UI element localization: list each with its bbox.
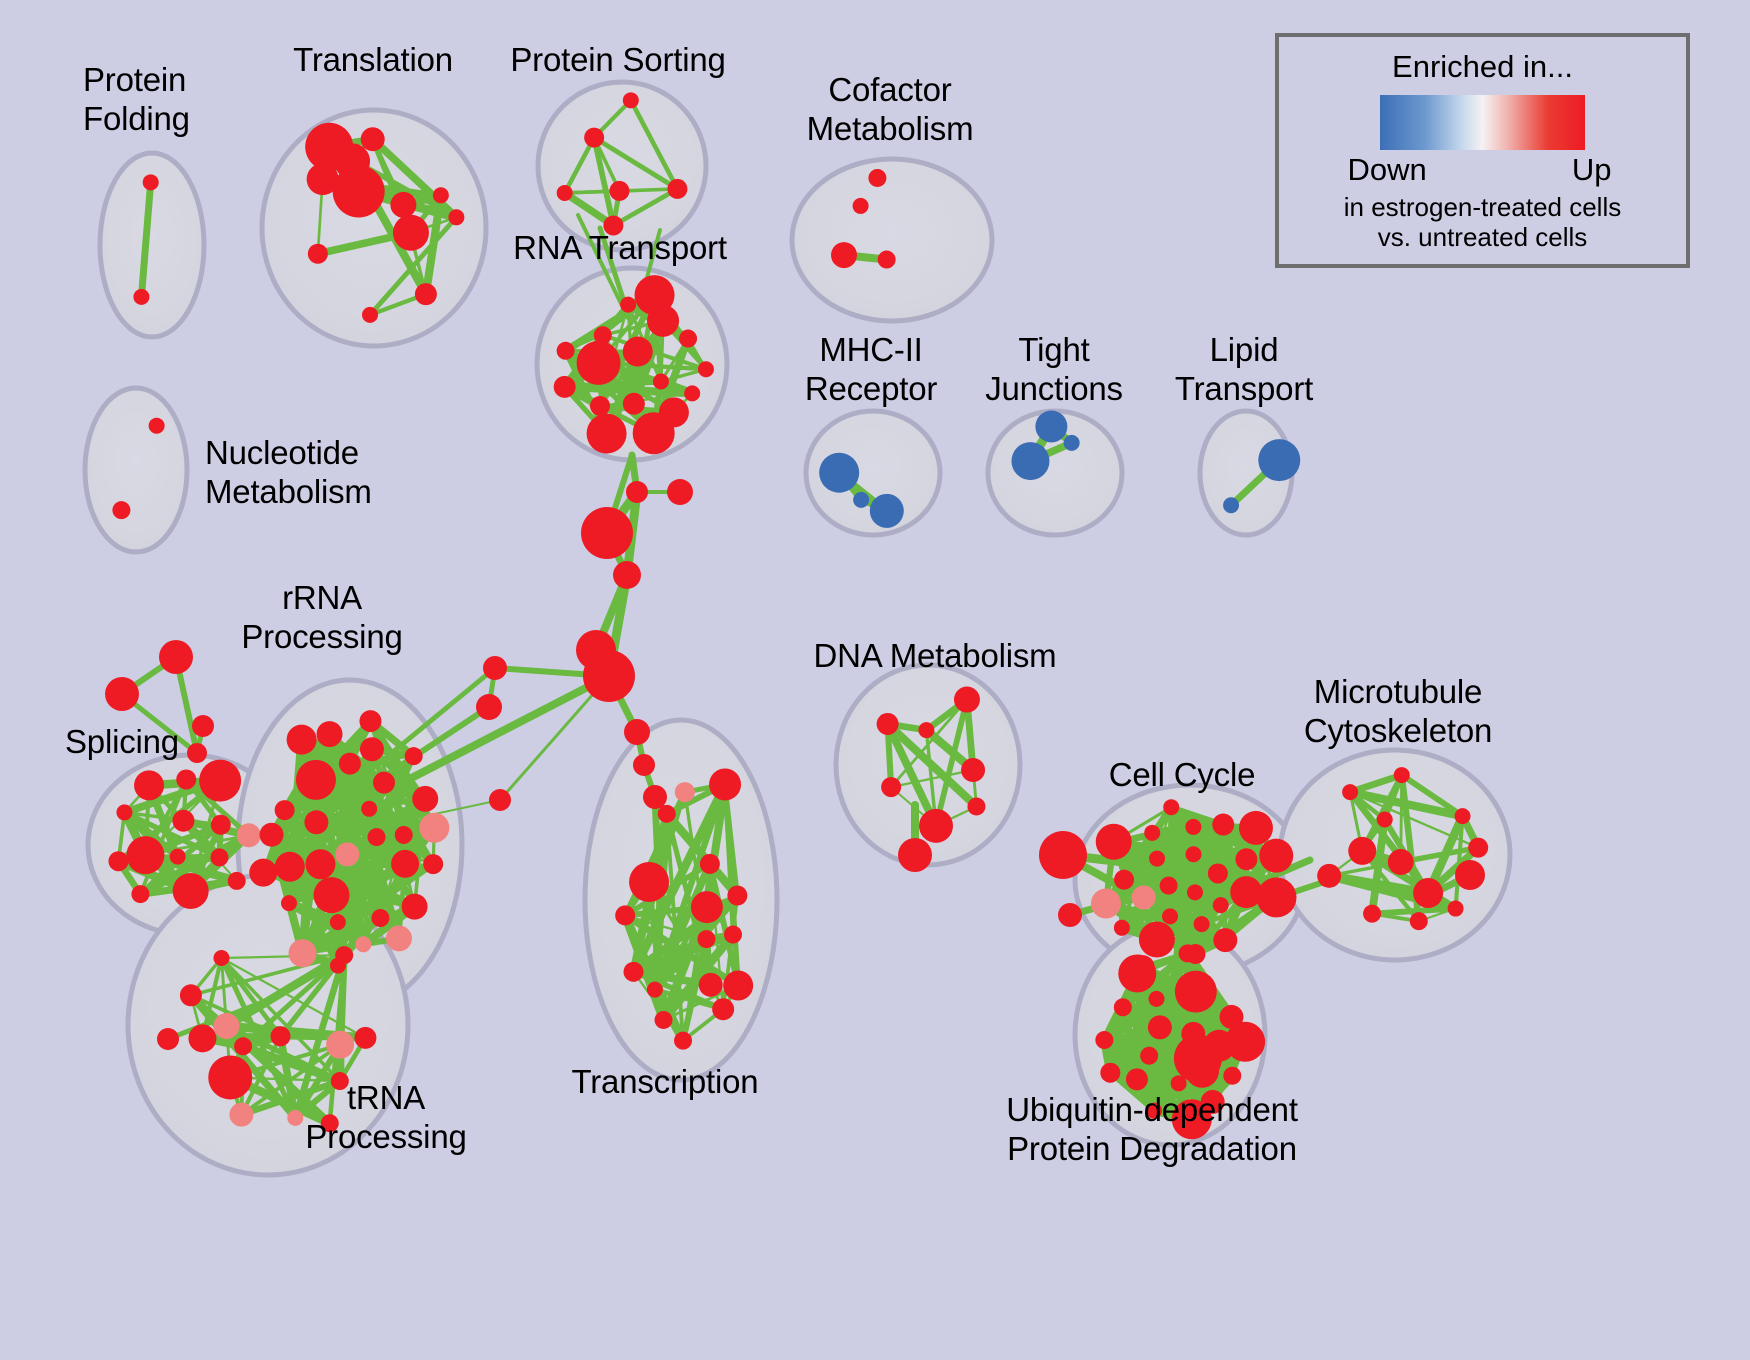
network-node[interactable] bbox=[584, 128, 604, 148]
network-node[interactable] bbox=[1388, 849, 1414, 875]
network-node[interactable] bbox=[361, 801, 377, 817]
network-node[interactable] bbox=[624, 719, 650, 745]
network-node[interactable] bbox=[317, 721, 343, 747]
network-node[interactable] bbox=[658, 805, 676, 823]
network-node[interactable] bbox=[402, 894, 428, 920]
network-node[interactable] bbox=[1096, 824, 1132, 860]
network-node[interactable] bbox=[727, 886, 747, 906]
network-node[interactable] bbox=[393, 215, 429, 251]
network-node[interactable] bbox=[647, 305, 679, 337]
legend-panel: Enriched in... Down Up in estrogen-treat… bbox=[1275, 33, 1690, 268]
network-node[interactable] bbox=[1118, 954, 1156, 992]
network-node[interactable] bbox=[1126, 1068, 1148, 1090]
network-node[interactable] bbox=[1468, 838, 1488, 858]
legend-caption-line2: vs. untreated cells bbox=[1279, 222, 1686, 252]
network-node[interactable] bbox=[355, 936, 371, 952]
network-node[interactable] bbox=[853, 492, 869, 508]
network-node[interactable] bbox=[643, 785, 667, 809]
network-node[interactable] bbox=[583, 650, 635, 702]
network-node[interactable] bbox=[335, 946, 353, 964]
network-node[interactable] bbox=[287, 1110, 303, 1126]
network-node[interactable] bbox=[386, 925, 412, 951]
network-node[interactable] bbox=[213, 950, 229, 966]
network-node[interactable] bbox=[691, 891, 723, 923]
network-node[interactable] bbox=[623, 337, 653, 367]
network-node[interactable] bbox=[557, 342, 575, 360]
network-node[interactable] bbox=[208, 1055, 252, 1099]
network-node[interactable] bbox=[134, 770, 164, 800]
network-node[interactable] bbox=[868, 169, 886, 187]
network-node[interactable] bbox=[390, 192, 416, 218]
network-node[interactable] bbox=[613, 561, 641, 589]
network-node[interactable] bbox=[433, 187, 449, 203]
network-node[interactable] bbox=[1257, 877, 1297, 917]
network-node[interactable] bbox=[1174, 1034, 1222, 1082]
network-node[interactable] bbox=[339, 753, 361, 775]
network-node[interactable] bbox=[1095, 1031, 1113, 1049]
network-node[interactable] bbox=[831, 242, 857, 268]
network-node[interactable] bbox=[368, 828, 386, 846]
network-node[interactable] bbox=[489, 789, 511, 811]
network-node[interactable] bbox=[697, 930, 715, 948]
network-node[interactable] bbox=[700, 854, 720, 874]
cluster-label-protein-folding: Protein Folding bbox=[83, 60, 190, 138]
network-node[interactable] bbox=[1132, 886, 1156, 910]
network-node[interactable] bbox=[699, 973, 723, 997]
network-node[interactable] bbox=[361, 127, 385, 151]
network-node[interactable] bbox=[1035, 410, 1067, 442]
network-node[interactable] bbox=[237, 823, 261, 847]
network-node[interactable] bbox=[1258, 439, 1300, 481]
network-node[interactable] bbox=[1148, 1015, 1172, 1039]
network-node[interactable] bbox=[359, 710, 381, 732]
network-node[interactable] bbox=[709, 768, 741, 800]
network-node[interactable] bbox=[172, 810, 194, 832]
cluster-label-nucleotide-metabolism: Nucleotide Metabolism bbox=[205, 433, 372, 511]
network-node[interactable] bbox=[131, 885, 149, 903]
cluster-label-microtubule-cytoskeleton: Microtubule Cytoskeleton bbox=[1304, 672, 1492, 750]
network-node[interactable] bbox=[1317, 864, 1341, 888]
network-node[interactable] bbox=[1187, 884, 1203, 900]
network-node[interactable] bbox=[305, 849, 335, 879]
network-node[interactable] bbox=[655, 1011, 673, 1029]
network-node[interactable] bbox=[1223, 1067, 1241, 1085]
network-node[interactable] bbox=[1185, 846, 1201, 862]
network-node[interactable] bbox=[1114, 920, 1130, 936]
cluster-label-lipid-transport: Lipid Transport bbox=[1175, 330, 1313, 408]
network-node[interactable] bbox=[249, 859, 277, 887]
network-node[interactable] bbox=[853, 198, 869, 214]
network-node[interactable] bbox=[108, 851, 128, 871]
network-node[interactable] bbox=[415, 283, 437, 305]
network-node[interactable] bbox=[609, 181, 629, 201]
network-node[interactable] bbox=[176, 769, 196, 789]
network-node[interactable] bbox=[712, 998, 734, 1020]
network-node[interactable] bbox=[112, 501, 130, 519]
legend-caption-line1: in estrogen-treated cells bbox=[1279, 192, 1686, 222]
network-node[interactable] bbox=[173, 873, 209, 909]
network-node[interactable] bbox=[289, 939, 317, 967]
network-node[interactable] bbox=[581, 507, 633, 559]
legend-down-label: Down bbox=[1348, 152, 1427, 188]
enrichment-map-figure: Protein FoldingTranslationProtein Sortin… bbox=[0, 0, 1750, 1360]
network-node[interactable] bbox=[878, 251, 896, 269]
network-node[interactable] bbox=[633, 754, 655, 776]
network-node[interactable] bbox=[674, 1032, 692, 1050]
network-node[interactable] bbox=[1114, 870, 1134, 890]
network-node[interactable] bbox=[360, 737, 384, 761]
network-node[interactable] bbox=[213, 1013, 239, 1039]
network-node[interactable] bbox=[126, 836, 164, 874]
network-node[interactable] bbox=[192, 715, 214, 737]
network-node[interactable] bbox=[1058, 903, 1082, 927]
network-node[interactable] bbox=[275, 852, 305, 882]
network-node[interactable] bbox=[1100, 1063, 1120, 1083]
network-node[interactable] bbox=[954, 687, 980, 713]
network-node[interactable] bbox=[448, 209, 464, 225]
network-node[interactable] bbox=[615, 905, 635, 925]
legend-color-gradient bbox=[1380, 95, 1585, 150]
network-node[interactable] bbox=[590, 396, 610, 416]
legend-up-label: Up bbox=[1572, 152, 1612, 188]
network-node[interactable] bbox=[629, 862, 669, 902]
network-node[interactable] bbox=[1208, 863, 1228, 883]
network-node[interactable] bbox=[1448, 901, 1464, 917]
network-node[interactable] bbox=[918, 722, 934, 738]
network-node[interactable] bbox=[1348, 837, 1376, 865]
network-node[interactable] bbox=[1140, 1047, 1158, 1065]
network-node[interactable] bbox=[967, 797, 985, 815]
network-node[interactable] bbox=[1230, 876, 1262, 908]
network-node[interactable] bbox=[1162, 908, 1178, 924]
network-node[interactable] bbox=[1179, 944, 1197, 962]
network-node[interactable] bbox=[149, 418, 165, 434]
cluster-label-dna-metabolism: DNA Metabolism bbox=[814, 636, 1057, 675]
network-node[interactable] bbox=[1413, 878, 1443, 908]
network-node[interactable] bbox=[170, 849, 186, 865]
network-node[interactable] bbox=[724, 926, 742, 944]
network-node[interactable] bbox=[296, 760, 336, 800]
network-node[interactable] bbox=[1091, 889, 1121, 919]
network-node[interactable] bbox=[304, 810, 328, 834]
cluster-label-cofactor-metabolism: Cofactor Metabolism bbox=[807, 70, 974, 148]
network-node[interactable] bbox=[675, 782, 695, 802]
network-node[interactable] bbox=[483, 656, 507, 680]
network-node[interactable] bbox=[1235, 848, 1257, 870]
network-node[interactable] bbox=[647, 982, 663, 998]
network-node[interactable] bbox=[1149, 851, 1165, 867]
network-node[interactable] bbox=[1225, 1022, 1265, 1062]
network-node[interactable] bbox=[1239, 811, 1273, 845]
network-node[interactable] bbox=[187, 743, 207, 763]
network-node[interactable] bbox=[919, 809, 953, 843]
network-node[interactable] bbox=[684, 385, 700, 401]
network-node[interactable] bbox=[234, 1037, 252, 1055]
network-node[interactable] bbox=[1410, 912, 1428, 930]
network-node[interactable] bbox=[587, 414, 627, 454]
network-node[interactable] bbox=[667, 179, 687, 199]
network-node[interactable] bbox=[313, 877, 349, 913]
network-node[interactable] bbox=[1213, 928, 1237, 952]
network-node[interactable] bbox=[391, 850, 419, 878]
network-node[interactable] bbox=[577, 341, 621, 385]
network-node[interactable] bbox=[199, 760, 241, 802]
legend-endpoint-labels: Down Up bbox=[1348, 152, 1618, 192]
network-node[interactable] bbox=[961, 758, 985, 782]
network-node[interactable] bbox=[1223, 497, 1239, 513]
network-node[interactable] bbox=[620, 297, 636, 313]
network-node[interactable] bbox=[287, 725, 317, 755]
cluster-label-trna-processing: tRNA Processing bbox=[305, 1078, 466, 1156]
network-node[interactable] bbox=[211, 815, 231, 835]
network-node[interactable] bbox=[1139, 921, 1175, 957]
network-node[interactable] bbox=[308, 244, 328, 264]
network-node[interactable] bbox=[281, 895, 297, 911]
network-node[interactable] bbox=[228, 872, 246, 890]
cluster-label-ubiquitin-degradation: Ubiquitin-dependent Protein Degradation bbox=[1006, 1090, 1298, 1168]
network-node[interactable] bbox=[334, 143, 370, 179]
cluster-label-rna-transport: RNA Transport bbox=[513, 228, 727, 267]
network-node[interactable] bbox=[229, 1103, 253, 1127]
network-node[interactable] bbox=[633, 412, 675, 454]
network-node[interactable] bbox=[476, 694, 502, 720]
network-node[interactable] bbox=[412, 786, 438, 812]
cluster-label-tight-junctions: Tight Junctions bbox=[985, 330, 1123, 408]
network-node[interactable] bbox=[1148, 991, 1164, 1007]
legend-title: Enriched in... bbox=[1279, 49, 1686, 85]
network-node[interactable] bbox=[210, 848, 228, 866]
network-node[interactable] bbox=[877, 713, 899, 735]
network-node[interactable] bbox=[271, 1026, 291, 1046]
network-node[interactable] bbox=[1213, 897, 1229, 913]
network-node[interactable] bbox=[1064, 435, 1080, 451]
network-node[interactable] bbox=[679, 330, 697, 348]
network-node[interactable] bbox=[330, 914, 346, 930]
network-node[interactable] bbox=[1175, 971, 1217, 1013]
network-node[interactable] bbox=[1342, 784, 1358, 800]
network-node[interactable] bbox=[1394, 767, 1410, 783]
cluster-label-protein-sorting: Protein Sorting bbox=[510, 40, 725, 79]
network-node[interactable] bbox=[143, 174, 159, 190]
network-node[interactable] bbox=[133, 289, 149, 305]
network-node[interactable] bbox=[1259, 839, 1293, 873]
network-node[interactable] bbox=[275, 800, 295, 820]
network-node[interactable] bbox=[1144, 825, 1160, 841]
network-node[interactable] bbox=[1455, 808, 1471, 824]
network-node[interactable] bbox=[626, 481, 648, 503]
network-node[interactable] bbox=[157, 1028, 179, 1050]
network-node[interactable] bbox=[554, 376, 576, 398]
network-node[interactable] bbox=[1039, 831, 1087, 879]
network-edge bbox=[1175, 935, 1180, 985]
cluster-ellipse bbox=[792, 159, 992, 321]
network-node[interactable] bbox=[1185, 819, 1201, 835]
network-node[interactable] bbox=[1212, 814, 1234, 836]
network-node[interactable] bbox=[362, 307, 378, 323]
network-node[interactable] bbox=[1011, 442, 1049, 480]
network-node[interactable] bbox=[1363, 905, 1381, 923]
network-node[interactable] bbox=[373, 772, 395, 794]
cluster-ellipse bbox=[85, 388, 187, 552]
network-node[interactable] bbox=[667, 479, 693, 505]
network-node[interactable] bbox=[623, 92, 639, 108]
network-node[interactable] bbox=[1114, 998, 1132, 1016]
network-node[interactable] bbox=[557, 185, 573, 201]
network-node[interactable] bbox=[1160, 877, 1178, 895]
network-node[interactable] bbox=[371, 909, 389, 927]
network-node[interactable] bbox=[326, 1031, 354, 1059]
network-node[interactable] bbox=[105, 677, 139, 711]
network-node[interactable] bbox=[180, 984, 202, 1006]
network-node[interactable] bbox=[116, 804, 132, 820]
network-node[interactable] bbox=[881, 777, 901, 797]
network-node[interactable] bbox=[723, 970, 753, 1000]
network-node[interactable] bbox=[335, 842, 359, 866]
cluster-label-transcription: Transcription bbox=[572, 1062, 759, 1101]
network-node[interactable] bbox=[624, 962, 644, 982]
network-node[interactable] bbox=[260, 823, 284, 847]
network-node[interactable] bbox=[653, 373, 669, 389]
network-node[interactable] bbox=[188, 1024, 216, 1052]
network-node[interactable] bbox=[159, 640, 193, 674]
cluster-label-splicing: Splicing bbox=[65, 722, 179, 761]
cluster-label-mhc-ii-receptor: MHC-II Receptor bbox=[805, 330, 937, 408]
cluster-label-translation: Translation bbox=[293, 40, 453, 79]
network-node[interactable] bbox=[1163, 799, 1179, 815]
network-node[interactable] bbox=[419, 813, 449, 843]
network-node[interactable] bbox=[1455, 860, 1485, 890]
cluster-label-cell-cycle: Cell Cycle bbox=[1109, 755, 1256, 794]
network-node[interactable] bbox=[898, 838, 932, 872]
network-node[interactable] bbox=[819, 453, 859, 493]
cluster-label-rrna-processing: rRNA Processing bbox=[241, 578, 402, 656]
network-node[interactable] bbox=[1194, 916, 1210, 932]
network-node[interactable] bbox=[623, 393, 645, 415]
network-node[interactable] bbox=[354, 1027, 376, 1049]
network-node[interactable] bbox=[1377, 811, 1393, 827]
network-node[interactable] bbox=[395, 826, 413, 844]
network-node[interactable] bbox=[423, 854, 443, 874]
network-node[interactable] bbox=[698, 361, 714, 377]
network-node[interactable] bbox=[870, 494, 904, 528]
network-node[interactable] bbox=[405, 747, 423, 765]
